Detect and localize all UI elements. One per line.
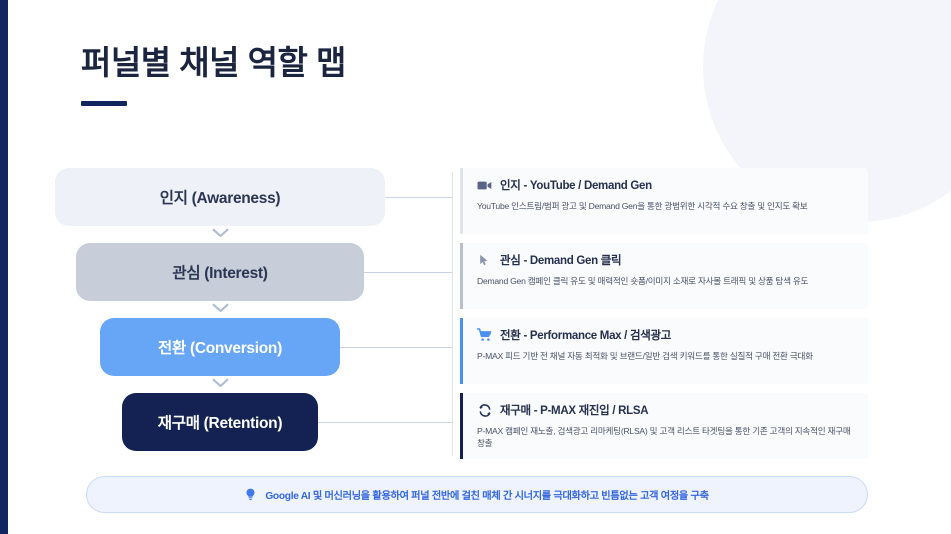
funnel-stage-label: 관심 (Interest)	[172, 261, 267, 283]
lightbulb-icon	[245, 488, 256, 501]
channel-card[interactable]: 인지 - YouTube / Demand GenYouTube 인스트림/범퍼…	[460, 168, 868, 234]
chevron-down-icon	[0, 228, 440, 238]
channel-card[interactable]: 관심 - Demand Gen 클릭Demand Gen 캠페인 클릭 유도 및…	[460, 243, 868, 309]
channel-card-header: 전환 - Performance Max / 검색광고	[477, 327, 858, 343]
shopping-cart-icon	[477, 328, 492, 343]
channel-card-description: Demand Gen 캠페인 클릭 유도 및 매력적인 숏폼/이미지 소재로 자…	[477, 275, 858, 287]
funnel-stage-box[interactable]: 전환 (Conversion)	[100, 318, 340, 376]
funnel-stage-label: 인지 (Awareness)	[160, 186, 281, 208]
channel-card-description: P-MAX 캠페인 재노출, 검색광고 리마케팅(RLSA) 및 고객 리스트 …	[477, 425, 858, 450]
funnel-stage-label: 재구매 (Retention)	[158, 411, 282, 433]
funnel-column: 인지 (Awareness)관심 (Interest)전환 (Conversio…	[0, 168, 440, 460]
left-accent-bar	[0, 0, 8, 534]
channel-card-header: 인지 - YouTube / Demand Gen	[477, 177, 858, 193]
slide-header: 퍼널별 채널 역할 맵	[81, 42, 346, 106]
funnel-connector-line	[318, 422, 452, 423]
channel-card-title: 재구매 - P-MAX 재진입 / RLSA	[500, 402, 648, 418]
channel-card-description: P-MAX 피드 기반 전 채널 자동 최적화 및 브랜드/일반 검색 키워드를…	[477, 350, 858, 362]
chevron-down-icon	[0, 303, 440, 313]
funnel-stage-box[interactable]: 재구매 (Retention)	[122, 393, 318, 451]
funnel-map-content: 인지 (Awareness)관심 (Interest)전환 (Conversio…	[0, 168, 951, 468]
summary-banner: Google AI 및 머신러닝을 활용하여 퍼널 전반에 걸친 매체 간 시너…	[86, 476, 868, 513]
funnel-connector-line	[340, 347, 452, 348]
channel-card-title: 관심 - Demand Gen 클릭	[500, 252, 621, 268]
channel-card-title: 인지 - YouTube / Demand Gen	[500, 177, 652, 193]
funnel-stage-1[interactable]: 인지 (Awareness)	[0, 168, 440, 226]
funnel-stage-box[interactable]: 관심 (Interest)	[76, 243, 364, 301]
refresh-cycle-icon	[477, 403, 492, 418]
funnel-connector-line	[364, 272, 452, 273]
page-title: 퍼널별 채널 역할 맵	[81, 42, 346, 83]
channel-card[interactable]: 재구매 - P-MAX 재진입 / RLSAP-MAX 캠페인 재노출, 검색광…	[460, 393, 868, 459]
funnel-connector-line	[385, 197, 452, 198]
cursor-pointer-icon	[477, 253, 492, 268]
slide-root: 퍼널별 채널 역할 맵 인지 (Awareness)관심 (Interest)전…	[0, 0, 951, 534]
title-underline	[81, 101, 127, 106]
video-camera-icon	[477, 178, 492, 193]
channel-card-description: YouTube 인스트림/범퍼 광고 및 Demand Gen을 통한 광범위한…	[477, 200, 858, 212]
channel-card[interactable]: 전환 - Performance Max / 검색광고P-MAX 피드 기반 전…	[460, 318, 868, 384]
banner-text: Google AI 및 머신러닝을 활용하여 퍼널 전반에 걸친 매체 간 시너…	[265, 487, 708, 502]
channel-card-title: 전환 - Performance Max / 검색광고	[500, 327, 671, 343]
chevron-down-icon	[0, 378, 440, 388]
channel-card-header: 관심 - Demand Gen 클릭	[477, 252, 858, 268]
funnel-stage-label: 전환 (Conversion)	[158, 336, 282, 358]
funnel-stage-box[interactable]: 인지 (Awareness)	[55, 168, 385, 226]
channel-card-header: 재구매 - P-MAX 재진입 / RLSA	[477, 402, 858, 418]
column-divider	[452, 172, 453, 456]
